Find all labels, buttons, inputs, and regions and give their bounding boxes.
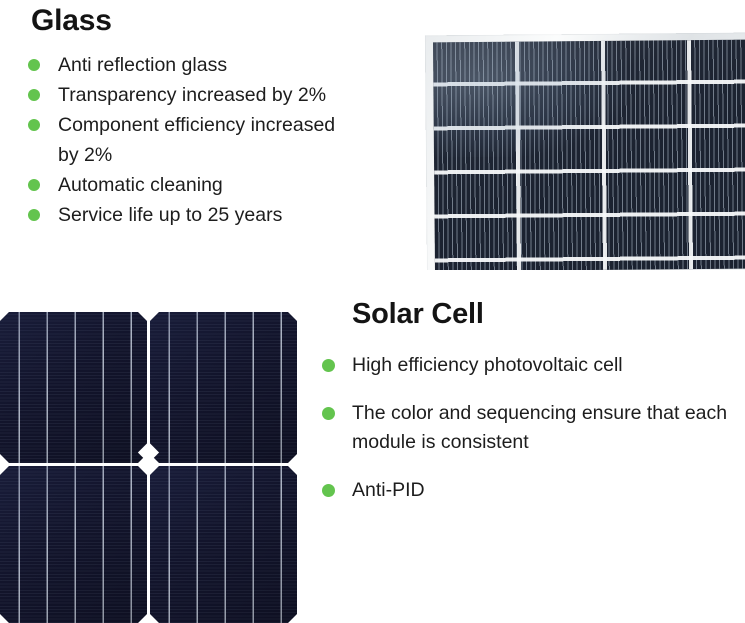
cell-shading bbox=[150, 466, 297, 623]
solar-cells-photo bbox=[0, 300, 300, 623]
solar-cell-feature-block: Solar Cell High efficiency photovoltaic … bbox=[318, 300, 742, 505]
list-item: The color and sequencing ensure that eac… bbox=[318, 399, 742, 457]
list-item-label: Component efficiency increased bbox=[58, 114, 335, 136]
bullet-dot-icon bbox=[28, 89, 40, 101]
list-item-label: Service life up to 25 years bbox=[58, 204, 282, 226]
list-item-label: Transparency increased by 2% bbox=[58, 84, 326, 106]
glass-feature-list: Anti reflection glass Transparency incre… bbox=[28, 50, 426, 230]
bullet-dot-icon bbox=[322, 407, 335, 420]
list-item-label: High efficiency photovoltaic cell bbox=[352, 354, 623, 376]
list-item: Transparency increased by 2% bbox=[28, 80, 426, 110]
cell-shading bbox=[0, 312, 147, 463]
list-item: Anti-PID bbox=[318, 476, 742, 505]
list-item-label: Anti reflection glass bbox=[58, 54, 227, 76]
list-item: Service life up to 25 years bbox=[28, 200, 426, 230]
mono-cell bbox=[150, 312, 297, 463]
cell-shading bbox=[0, 466, 147, 623]
list-item-label: Anti-PID bbox=[352, 479, 425, 501]
bullet-dot-icon bbox=[28, 119, 40, 131]
solar-cell-feature-list: High efficiency photovoltaic cell The co… bbox=[318, 351, 742, 505]
solar-cell-section-title: Solar Cell bbox=[352, 300, 742, 329]
cell-shading bbox=[150, 312, 297, 463]
list-item: Component efficiency increased by 2% bbox=[28, 110, 426, 170]
list-item-label: Automatic cleaning bbox=[58, 174, 223, 196]
list-item-label: The color and sequencing ensure bbox=[352, 402, 641, 424]
mono-cell bbox=[150, 466, 297, 623]
mono-cell bbox=[0, 312, 147, 463]
bullet-dot-icon bbox=[28, 209, 40, 221]
bullet-dot-icon bbox=[322, 359, 335, 372]
module-laminate bbox=[433, 40, 745, 270]
glass-section-title: Glass bbox=[31, 6, 426, 36]
bullet-dot-icon bbox=[28, 59, 40, 71]
feature-page: Glass Anti reflection glass Transparency… bbox=[0, 0, 745, 623]
mono-cell-grid bbox=[0, 312, 297, 623]
bullet-dot-icon bbox=[28, 179, 40, 191]
glass-feature-block: Glass Anti reflection glass Transparency… bbox=[28, 6, 426, 230]
bullet-dot-icon bbox=[322, 484, 335, 497]
module-aluminium-frame bbox=[425, 33, 745, 270]
list-item: Automatic cleaning bbox=[28, 170, 426, 200]
module-column-separators bbox=[433, 40, 745, 270]
list-item: High efficiency photovoltaic cell bbox=[318, 351, 742, 380]
list-item: Anti reflection glass bbox=[28, 50, 426, 80]
solar-module-photo bbox=[410, 20, 745, 270]
mono-cell bbox=[0, 466, 147, 623]
list-item-label-line2: by 2% bbox=[58, 140, 426, 170]
